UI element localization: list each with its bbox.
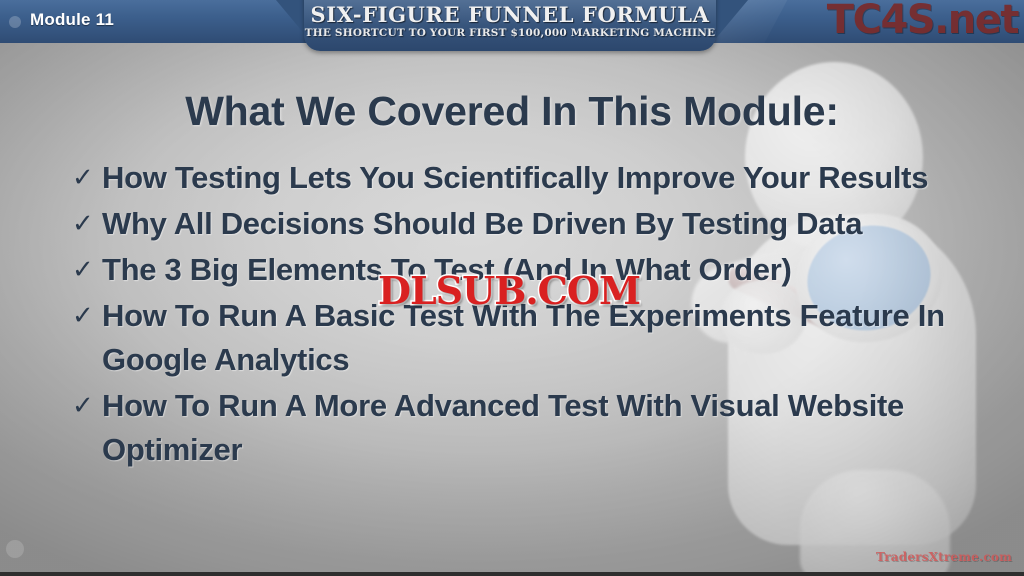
list-item-label: How Testing Lets You Scientifically Impr…: [102, 156, 928, 200]
check-icon: ✓: [72, 294, 102, 338]
course-banner-title: SIX-FIGURE FUNNEL FORMULA: [304, 2, 716, 27]
course-banner-subtitle: THE SHORTCUT TO YOUR FIRST $100,000 MARK…: [304, 27, 716, 39]
course-banner: SIX-FIGURE FUNNEL FORMULA THE SHORTCUT T…: [304, 0, 716, 51]
corner-orb-icon: [6, 540, 24, 558]
center-watermark: DLSUB.COM: [378, 268, 640, 313]
check-icon: ✓: [72, 202, 102, 246]
module-label: Module 11: [30, 10, 114, 30]
list-item-label: Why All Decisions Should Be Driven By Te…: [102, 202, 862, 246]
list-item: ✓ Why All Decisions Should Be Driven By …: [72, 202, 972, 246]
slide-canvas: Module 11 TC4S.net SIX-FIGURE FUNNEL FOR…: [0, 0, 1024, 576]
page-title: What We Covered In This Module:: [0, 88, 1024, 135]
summary-bullet-list: ✓ How Testing Lets You Scientifically Im…: [72, 156, 972, 474]
list-item-label: How To Run A More Advanced Test With Vis…: [102, 384, 972, 472]
list-item: ✓ How To Run A More Advanced Test With V…: [72, 384, 972, 472]
brand-watermark: TC4S.net: [827, 0, 1018, 43]
module-bullet-icon: [9, 16, 21, 28]
footer-watermark: TradersXtreme.com: [876, 550, 1012, 564]
check-icon: ✓: [72, 156, 102, 200]
check-icon: ✓: [72, 384, 102, 428]
list-item: ✓ How Testing Lets You Scientifically Im…: [72, 156, 972, 200]
check-icon: ✓: [72, 248, 102, 292]
bottom-strip: [0, 572, 1024, 576]
